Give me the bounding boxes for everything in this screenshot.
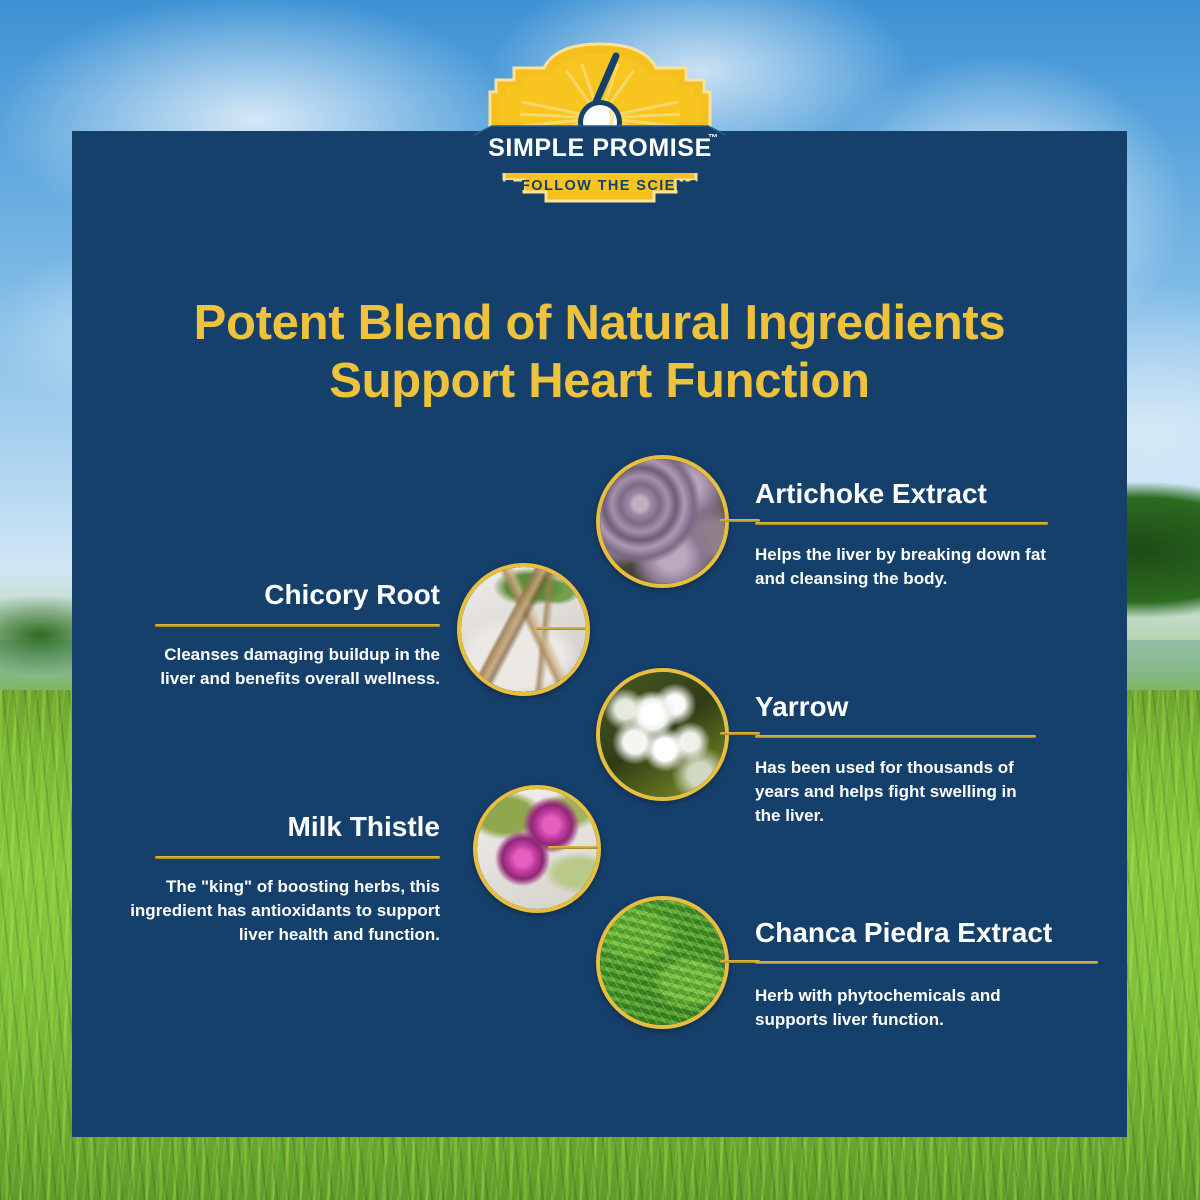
milk-thistle-description: The "king" of boosting herbs, this ingre… [95, 875, 440, 947]
chanca-piedra-title: Chanca Piedra Extract [755, 918, 1105, 949]
milk-thistle-underline [155, 856, 440, 859]
artichoke-connector-line [720, 519, 760, 522]
artichoke-underline [755, 522, 1048, 525]
milk-thistle-connector-line [548, 846, 598, 849]
page-title-line-2: Support Heart Function [72, 353, 1127, 411]
logo-tagline: WE FOLLOW THE SCIENCE [489, 178, 710, 194]
page-title-line-1: Potent Blend of Natural Ingredients [72, 295, 1127, 353]
simple-promise-logo: SIMPLE PROMISE ™ WE FOLLOW THE SCIENCE [470, 40, 730, 205]
milk-thistle-photo [473, 785, 601, 913]
infographic-page: SIMPLE PROMISE ™ WE FOLLOW THE SCIENCE P… [0, 0, 1200, 1200]
yarrow-title: Yarrow [755, 692, 1075, 723]
milk-thistle-title: Milk Thistle [95, 812, 440, 843]
artichoke-photo-image [600, 459, 725, 584]
yarrow-connector-line [720, 732, 760, 735]
chanca-piedra-underline [755, 961, 1098, 964]
artichoke-description: Helps the liver by breaking down fat and… [755, 543, 1067, 591]
logo-wordmark: SIMPLE PROMISE [488, 134, 712, 162]
logo-badge-icon: SIMPLE PROMISE ™ WE FOLLOW THE SCIENCE [470, 40, 730, 205]
yarrow-underline [755, 735, 1036, 738]
chicory-root-description: Cleanses damaging buildup in the liver a… [130, 643, 440, 691]
chicory-root-title: Chicory Root [130, 580, 440, 611]
chanca-piedra-photo [596, 896, 729, 1029]
milk-thistle-photo-image [477, 789, 597, 909]
chanca-piedra-description: Herb with phytochemicals and supports li… [755, 984, 1055, 1032]
page-title: Potent Blend of Natural Ingredients Supp… [72, 295, 1127, 411]
yarrow-photo-image [600, 672, 725, 797]
logo-trademark-symbol: ™ [708, 133, 718, 144]
artichoke-title: Artichoke Extract [755, 479, 1075, 510]
yarrow-photo [596, 668, 729, 801]
yarrow-description: Has been used for thousands of years and… [755, 756, 1045, 828]
chanca-piedra-connector-line [720, 960, 760, 963]
chicory-root-connector-line [536, 627, 586, 630]
chanca-piedra-photo-image [600, 900, 725, 1025]
chicory-root-underline [155, 624, 440, 627]
artichoke-photo [596, 455, 729, 588]
